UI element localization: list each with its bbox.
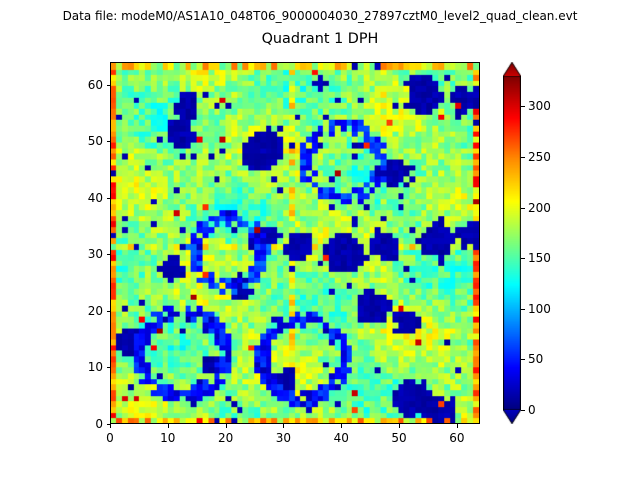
- x-tick-mark: [283, 424, 284, 428]
- x-tick-mark: [168, 424, 169, 428]
- x-tick-label: 0: [106, 431, 114, 445]
- colorbar-tick-mark: [521, 309, 525, 310]
- x-tick-mark: [110, 424, 111, 428]
- dph-heatmap-image: [111, 63, 479, 423]
- colorbar-under-cap: [503, 410, 521, 424]
- colorbar-tick-label: 200: [528, 201, 551, 215]
- y-tick-label: 10: [70, 360, 103, 374]
- colorbar-over-cap: [503, 62, 521, 76]
- data-file-label: Data file: modeM0/AS1A10_048T06_90000040…: [0, 9, 640, 23]
- colorbar-tick-mark: [521, 258, 525, 259]
- x-tick-mark: [341, 424, 342, 428]
- figure-canvas: Data file: modeM0/AS1A10_048T06_90000040…: [0, 0, 640, 480]
- y-tick-label: 20: [70, 304, 103, 318]
- y-tick-label: 50: [70, 134, 103, 148]
- colorbar[interactable]: [503, 62, 521, 424]
- colorbar-tick-mark: [521, 106, 525, 107]
- colorbar-tick-label: 250: [528, 150, 551, 164]
- x-tick-mark: [399, 424, 400, 428]
- colorbar-tick-label: 150: [528, 251, 551, 265]
- y-tick-mark: [107, 85, 111, 86]
- y-tick-label: 60: [70, 78, 103, 92]
- x-tick-mark: [226, 424, 227, 428]
- y-tick-mark: [107, 424, 111, 425]
- y-tick-label: 0: [70, 417, 103, 431]
- x-tick-label: 20: [218, 431, 233, 445]
- x-tick-label: 30: [276, 431, 291, 445]
- y-tick-mark: [107, 254, 111, 255]
- colorbar-tick-label: 100: [528, 302, 551, 316]
- colorbar-tick-mark: [521, 208, 525, 209]
- heatmap-axes[interactable]: [110, 62, 480, 424]
- y-tick-mark: [107, 198, 111, 199]
- y-tick-label: 30: [70, 247, 103, 261]
- colorbar-tick-mark: [521, 157, 525, 158]
- x-tick-label: 10: [160, 431, 175, 445]
- colorbar-tick-mark: [521, 359, 525, 360]
- colorbar-tick-label: 300: [528, 99, 551, 113]
- x-tick-label: 50: [391, 431, 406, 445]
- colorbar-tick-mark: [521, 410, 525, 411]
- x-tick-label: 60: [449, 431, 464, 445]
- colorbar-tick-label: 50: [528, 352, 543, 366]
- page-title: Quadrant 1 DPH: [0, 31, 640, 47]
- x-tick-label: 40: [334, 431, 349, 445]
- colorbar-gradient: [503, 76, 521, 410]
- y-tick-mark: [107, 141, 111, 142]
- y-tick-mark: [107, 367, 111, 368]
- x-tick-mark: [457, 424, 458, 428]
- y-tick-label: 40: [70, 191, 103, 205]
- colorbar-tick-label: 0: [528, 403, 536, 417]
- y-tick-mark: [107, 311, 111, 312]
